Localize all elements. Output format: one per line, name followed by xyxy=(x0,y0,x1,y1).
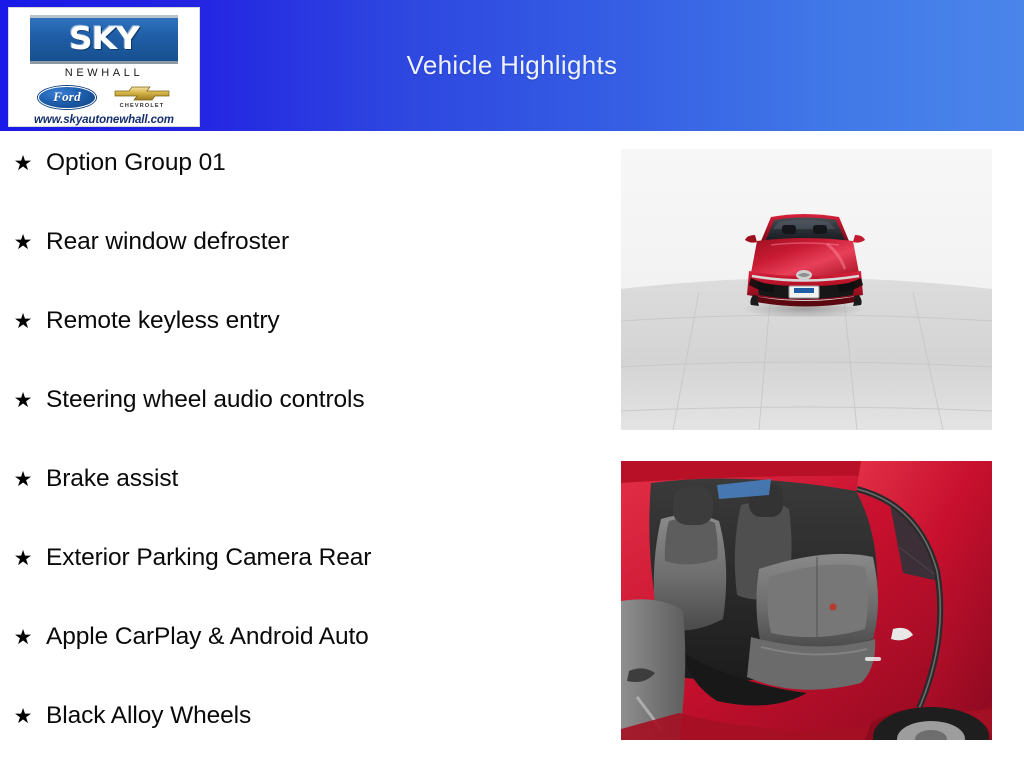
chevy-bowtie-icon xyxy=(114,85,170,102)
feature-label: Remote keyless entry xyxy=(46,309,280,334)
vehicle-exterior-front-photo[interactable] xyxy=(621,149,992,430)
feature-label: Apple CarPlay & Android Auto xyxy=(46,625,369,650)
feature-label: Brake assist xyxy=(46,467,178,492)
feature-label: Option Group 01 xyxy=(46,151,226,176)
list-item: ★ Option Group 01 xyxy=(12,151,600,230)
list-item: ★ Brake assist xyxy=(12,467,600,546)
star-bullet-icon: ★ xyxy=(12,153,34,174)
list-item: ★ Rear window defroster xyxy=(12,230,600,309)
star-bullet-icon: ★ xyxy=(12,311,34,332)
list-item: ★ Steering wheel audio controls xyxy=(12,388,600,467)
feature-label: Exterior Parking Camera Rear xyxy=(46,546,371,571)
list-item: ★ Apple CarPlay & Android Auto xyxy=(12,625,600,704)
dealer-logo[interactable]: SKY NEWHALL Ford CHEVROLET xyxy=(8,7,200,127)
feature-label: Steering wheel audio controls xyxy=(46,388,365,413)
chevrolet-logo-text: CHEVROLET xyxy=(120,103,165,109)
star-bullet-icon: ★ xyxy=(12,390,34,411)
dealer-website-text: www.skyautonewhall.com xyxy=(34,114,174,126)
vehicle-highlights-list: ★ Option Group 01 ★ Rear window defroste… xyxy=(0,131,600,768)
ford-logo-icon: Ford xyxy=(38,86,96,109)
star-bullet-icon: ★ xyxy=(12,706,34,727)
list-item: ★ Remote keyless entry xyxy=(12,309,600,388)
star-bullet-icon: ★ xyxy=(12,232,34,253)
interior-photo-graphic xyxy=(621,461,992,740)
franchise-badges: Ford CHEVROLET xyxy=(9,82,199,112)
feature-label: Black Alloy Wheels xyxy=(46,704,251,729)
sky-brand-plate: SKY xyxy=(30,15,178,64)
list-item: ★ Black Alloy Wheels xyxy=(12,704,600,768)
dealer-location-text: NEWHALL xyxy=(65,67,143,79)
ford-logo-text: Ford xyxy=(53,89,81,105)
star-bullet-icon: ★ xyxy=(12,469,34,490)
vehicle-highlights-slide: Vehicle Highlights SKY NEWHALL Ford xyxy=(0,0,1024,768)
star-bullet-icon: ★ xyxy=(12,548,34,569)
exterior-photo-graphic xyxy=(621,149,992,430)
chevrolet-logo-icon: CHEVROLET xyxy=(114,85,170,109)
vehicle-interior-rear-photo[interactable] xyxy=(621,461,992,740)
sky-brand-text: SKY xyxy=(69,24,139,55)
feature-label: Rear window defroster xyxy=(46,230,289,255)
star-bullet-icon: ★ xyxy=(12,627,34,648)
list-item: ★ Exterior Parking Camera Rear xyxy=(12,546,600,625)
